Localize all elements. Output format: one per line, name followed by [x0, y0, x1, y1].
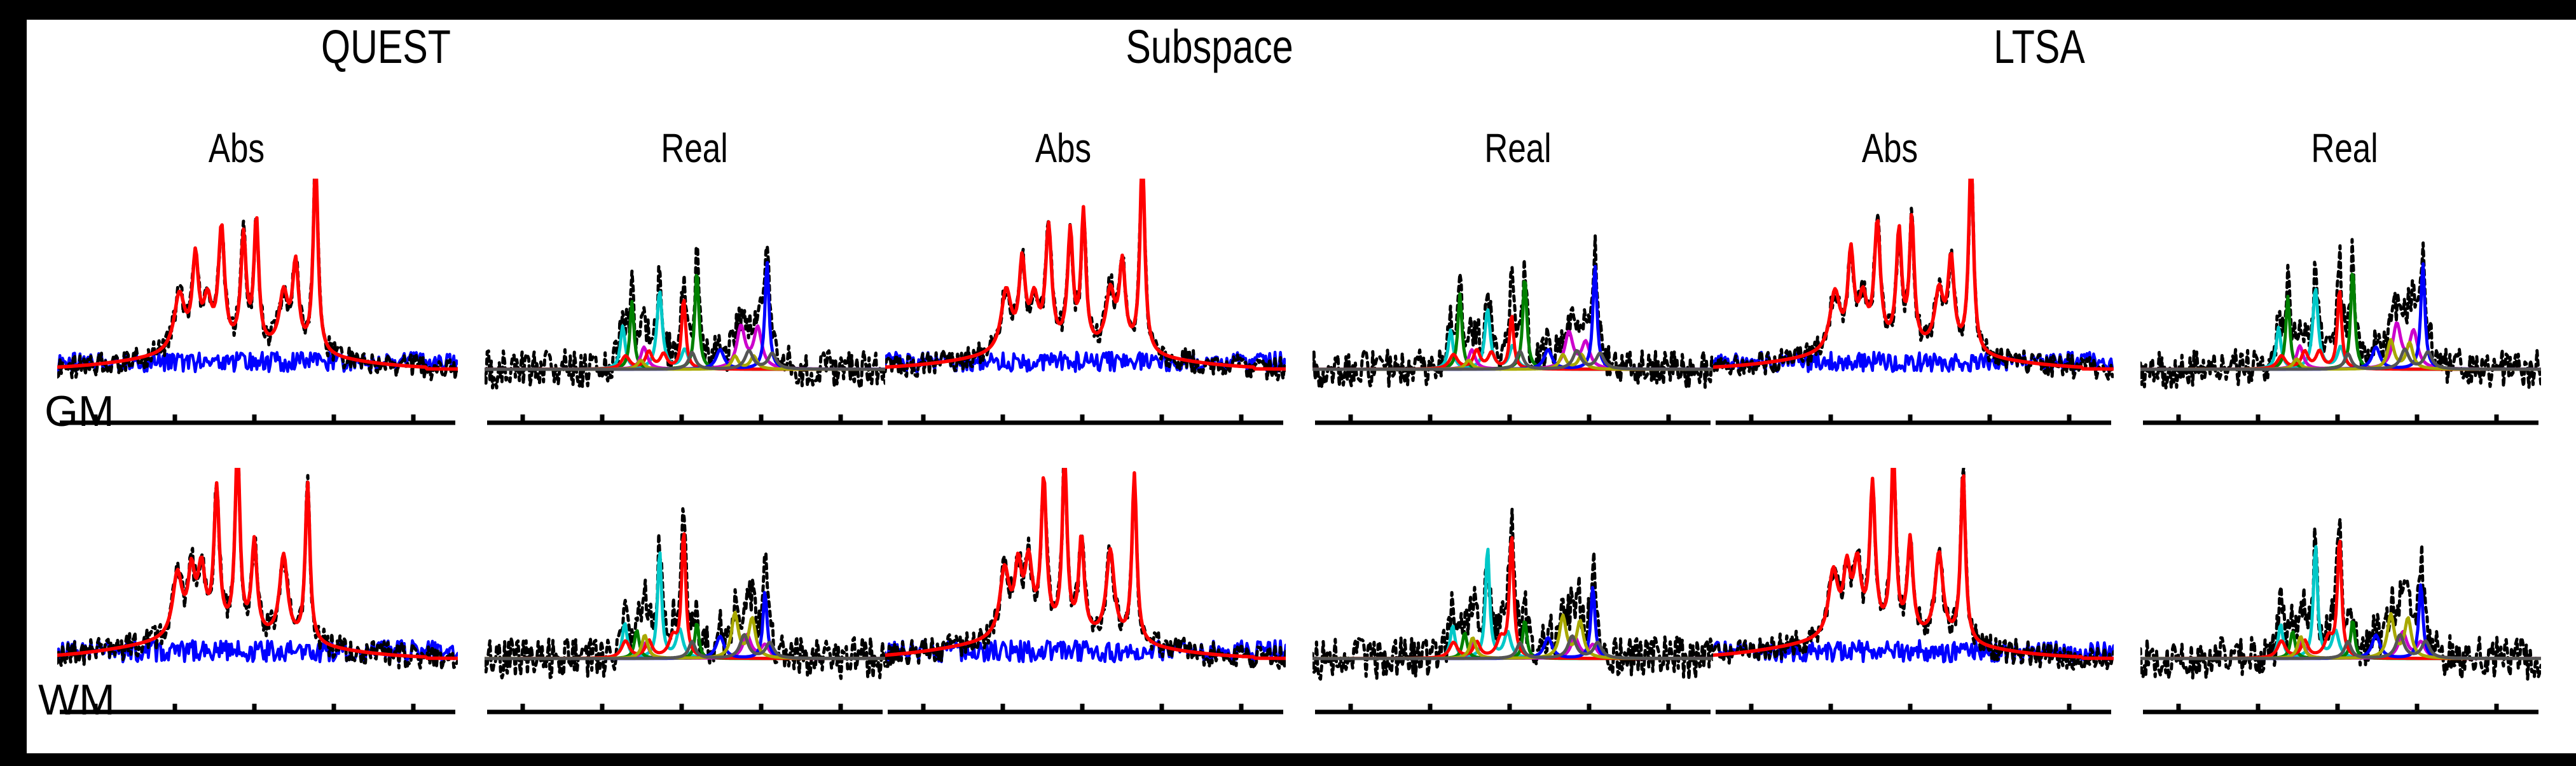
spectrum-svg	[2140, 468, 2541, 722]
spectrum-svg	[57, 468, 458, 722]
metabolite-component-trace	[485, 534, 885, 659]
plot-ltsa-wm-real	[2140, 468, 2541, 722]
spectrum-svg	[885, 179, 1286, 433]
subpanel-title-subspace-abs: Abs	[860, 128, 1267, 168]
column-title-subspace: Subspace	[922, 24, 1497, 71]
model-fit-trace	[57, 468, 458, 659]
spectrum-svg	[57, 179, 458, 433]
subpanel-title-quest-real: Real	[491, 128, 898, 168]
column-title-quest: QUEST	[99, 24, 673, 71]
metabolite-component-trace	[2140, 541, 2541, 659]
plot-subspace-wm-abs	[885, 468, 1286, 722]
spectrum-svg	[885, 468, 1286, 722]
figure-canvas: QUEST Subspace LTSA Abs Real Abs Real Ab…	[27, 20, 2576, 753]
plot-quest-gm-abs	[57, 179, 458, 433]
figure-root: QUEST Subspace LTSA Abs Real Abs Real Ab…	[0, 0, 2576, 766]
column-title-ltsa: LTSA	[1752, 24, 2327, 71]
subpanel-title-quest-abs: Abs	[33, 128, 440, 168]
subpanel-title-subspace-real: Real	[1314, 128, 1721, 168]
subpanel-title-ltsa-real: Real	[2141, 128, 2548, 168]
plot-ltsa-wm-abs	[1713, 468, 2114, 722]
model-fit-trace	[57, 179, 458, 369]
subpanel-title-ltsa-abs: Abs	[1686, 128, 2093, 168]
spectrum-svg	[1713, 468, 2114, 722]
model-fit-trace	[1713, 468, 2114, 659]
plot-ltsa-gm-real	[2140, 179, 2541, 433]
plot-subspace-wm-real	[1312, 468, 1713, 722]
model-fit-trace	[1713, 179, 2114, 369]
spectrum-svg	[1312, 468, 1713, 722]
plot-ltsa-gm-abs	[1713, 179, 2114, 433]
spectrum-svg	[1312, 179, 1713, 433]
spectrum-svg	[1713, 179, 2114, 433]
metabolite-component-trace	[2140, 292, 2541, 369]
spectrum-svg	[2140, 179, 2541, 433]
plot-quest-wm-real	[485, 468, 885, 722]
spectrum-svg	[485, 468, 885, 722]
model-fit-trace	[885, 179, 1286, 369]
plot-quest-gm-real	[485, 179, 885, 433]
plot-subspace-gm-real	[1312, 179, 1713, 433]
plot-quest-wm-abs	[57, 468, 458, 722]
spectrum-svg	[485, 179, 885, 433]
plot-subspace-gm-abs	[885, 179, 1286, 433]
